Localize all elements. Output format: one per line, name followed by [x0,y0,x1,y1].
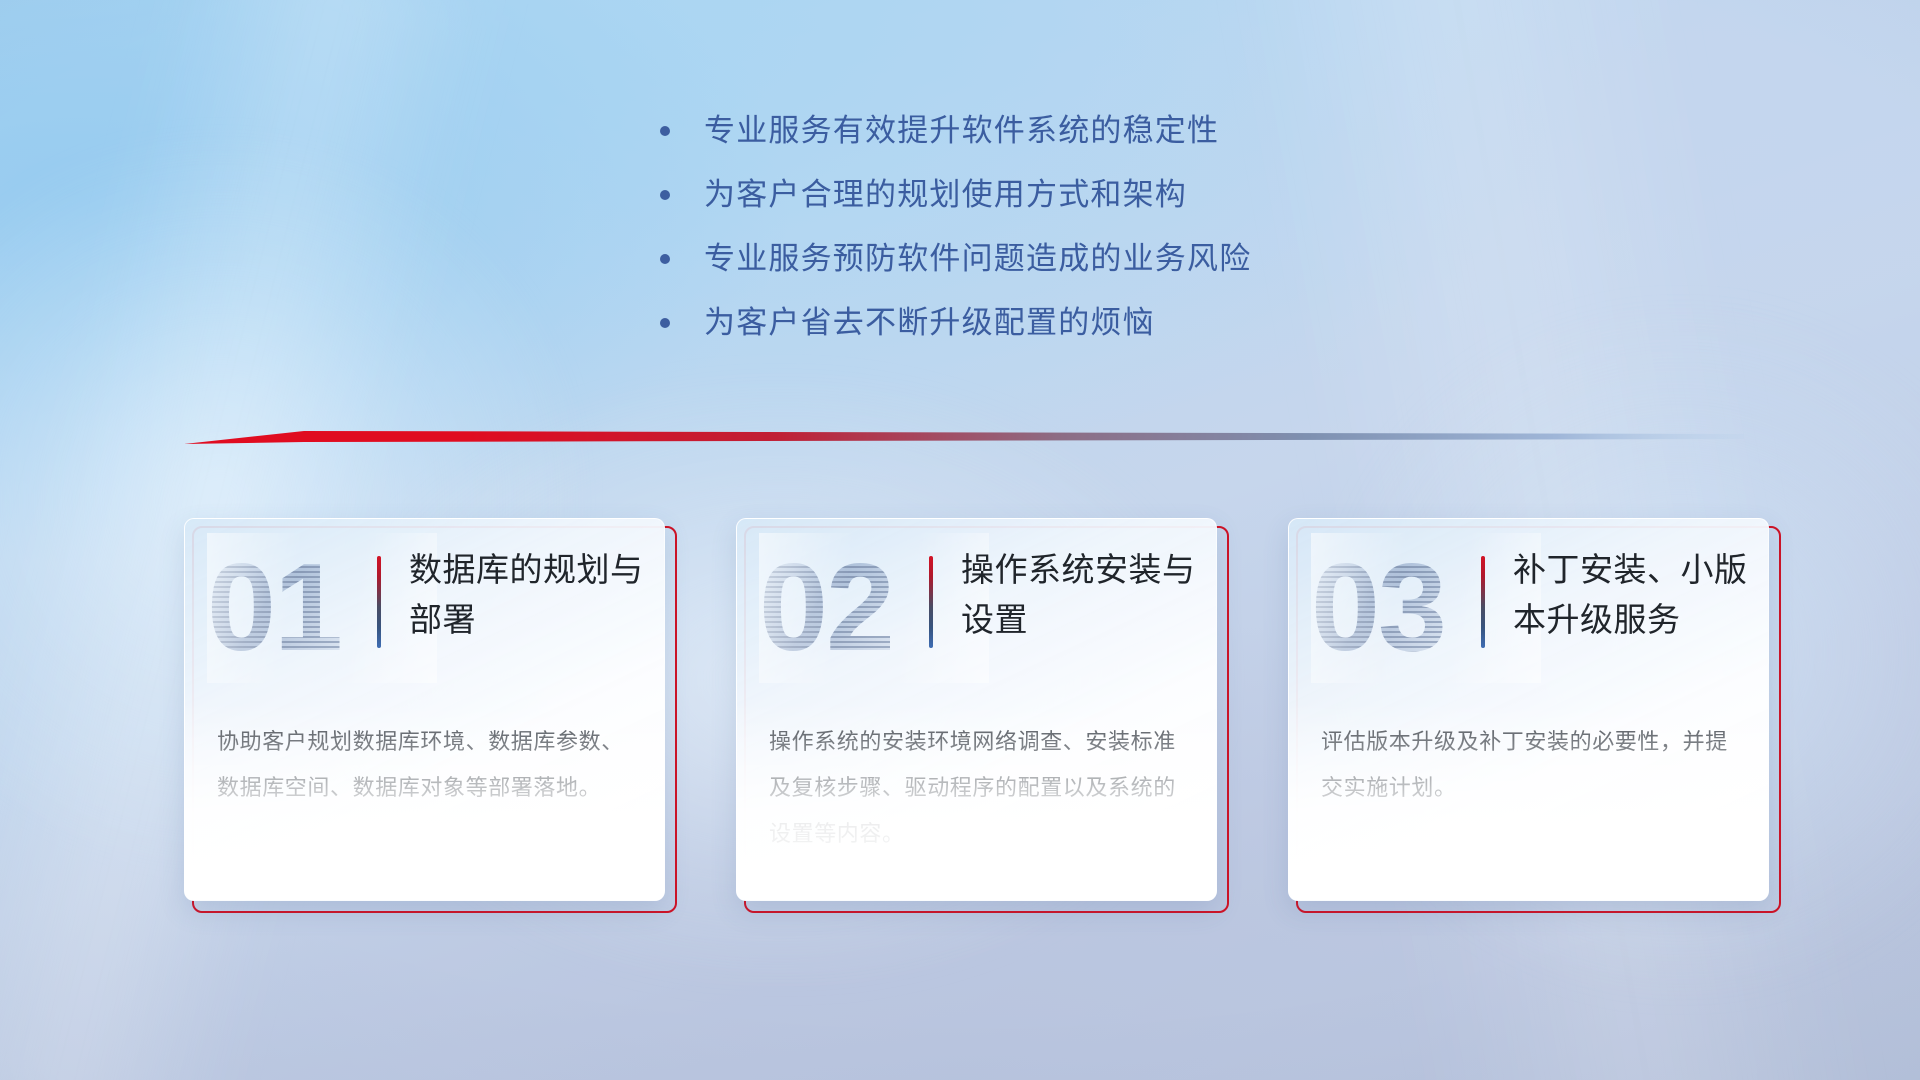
card-description: 操作系统的安装环境网络调查、安装标准及复核步骤、驱动程序的配置以及系统的设置等内… [769,719,1189,857]
card-header: 01 数据库的规划与部署 [185,519,665,715]
service-card[interactable]: 02 操作系统安装与设置 操作系统的安装环境网络调查、安装标准及复核步骤、驱动程… [736,518,1229,913]
card-title: 补丁安装、小版本升级服务 [1513,545,1757,645]
service-card[interactable]: 01 数据库的规划与部署 协助客户规划数据库环境、数据库参数、数据库空间、数据库… [184,518,677,913]
card-surface: 02 操作系统安装与设置 操作系统的安装环境网络调查、安装标准及复核步骤、驱动程… [736,518,1217,901]
card-title: 操作系统安装与设置 [961,545,1205,645]
card-description: 协助客户规划数据库环境、数据库参数、数据库空间、数据库对象等部署落地。 [217,719,637,811]
bullet-text: 为客户省去不断升级配置的烦恼 [704,302,1155,344]
list-item: 专业服务有效提升软件系统的稳定性 [660,110,1560,152]
card-title-divider-bar [1481,556,1485,648]
card-title: 数据库的规划与部署 [409,545,653,645]
card-number: 02 [759,533,893,683]
card-surface: 03 补丁安装、小版本升级服务 评估版本升级及补丁安装的必要性，并提交实施计划。 [1288,518,1769,901]
list-item: 为客户省去不断升级配置的烦恼 [660,302,1560,344]
service-card[interactable]: 03 补丁安装、小版本升级服务 评估版本升级及补丁安装的必要性，并提交实施计划。 [1288,518,1781,913]
section-divider [184,425,1744,451]
section-divider-shape [184,425,1744,451]
bullet-dot-icon [660,318,670,328]
card-title-divider-bar [929,556,933,648]
bullet-text: 专业服务有效提升软件系统的稳定性 [704,110,1219,152]
list-item: 专业服务预防软件问题造成的业务风险 [660,238,1560,280]
bullet-text: 为客户合理的规划使用方式和架构 [704,174,1187,216]
card-title-divider-bar [377,556,381,648]
card-number: 01 [207,533,341,683]
card-description: 评估版本升级及补丁安装的必要性，并提交实施计划。 [1321,719,1741,811]
card-header: 02 操作系统安装与设置 [737,519,1217,715]
service-card-grid: 01 数据库的规划与部署 协助客户规划数据库环境、数据库参数、数据库空间、数据库… [184,518,1784,918]
list-item: 为客户合理的规划使用方式和架构 [660,174,1560,216]
bullet-dot-icon [660,254,670,264]
bullet-dot-icon [660,190,670,200]
benefits-bullet-list: 专业服务有效提升软件系统的稳定性 为客户合理的规划使用方式和架构 专业服务预防软… [660,110,1560,366]
card-number: 03 [1311,533,1445,683]
bullet-text: 专业服务预防软件问题造成的业务风险 [704,238,1251,280]
card-surface: 01 数据库的规划与部署 协助客户规划数据库环境、数据库参数、数据库空间、数据库… [184,518,665,901]
card-header: 03 补丁安装、小版本升级服务 [1289,519,1769,715]
bullet-dot-icon [660,126,670,136]
